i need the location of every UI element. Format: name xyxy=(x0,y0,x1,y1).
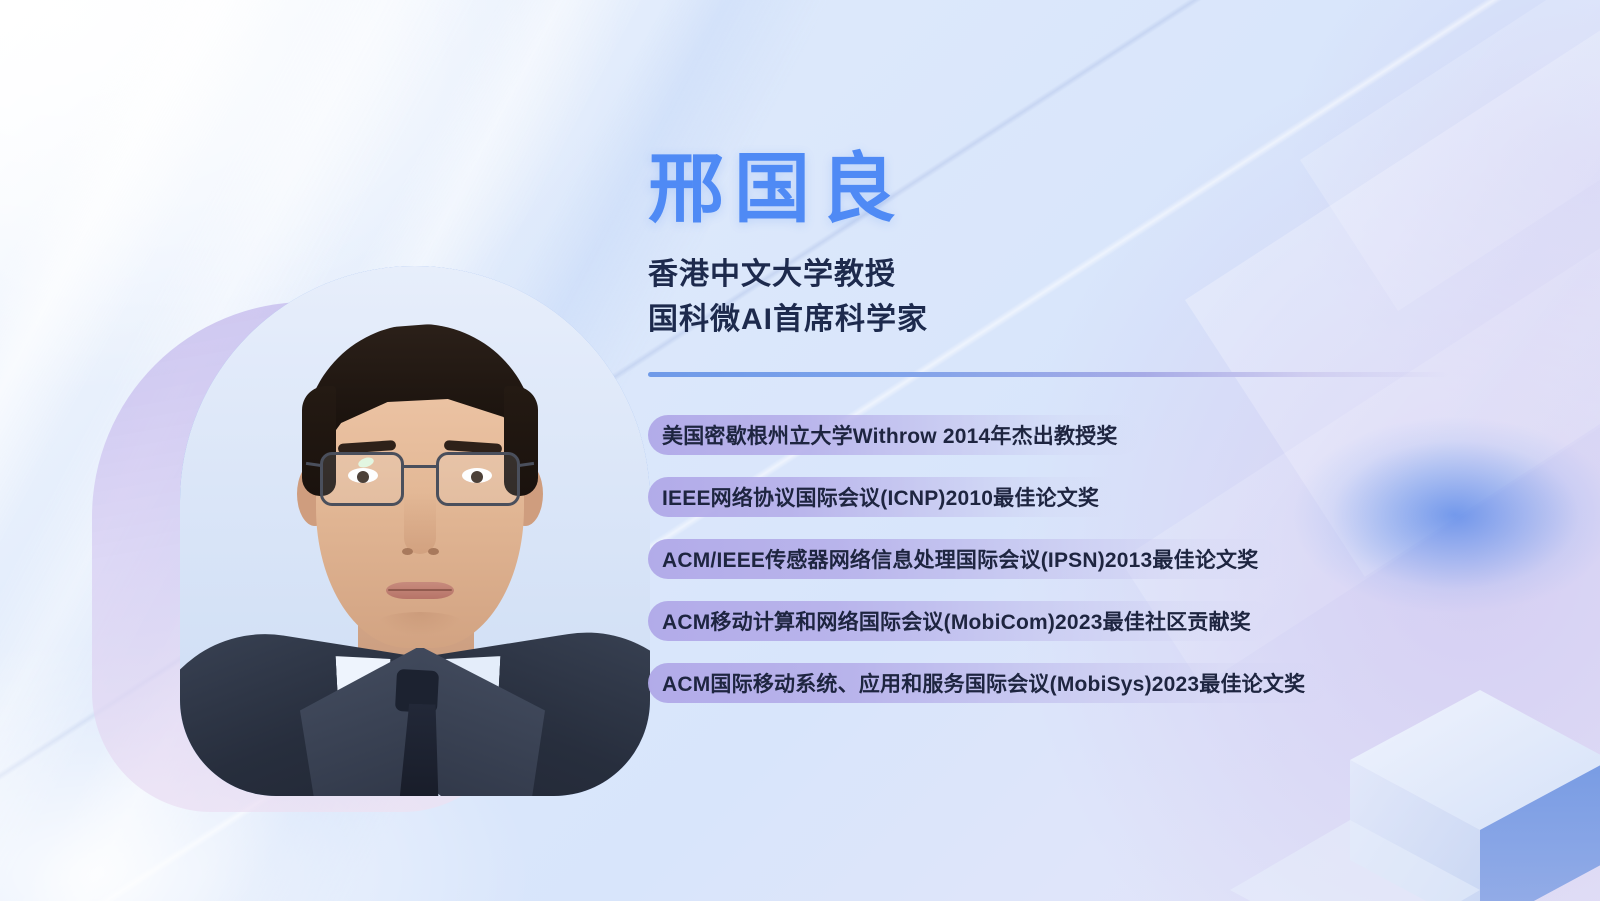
award-item: ACM国际移动系统、应用和服务国际会议(MobiSys)2023最佳论文奖 xyxy=(648,663,1327,703)
person-title-line: 香港中文大学教授 xyxy=(648,252,1548,297)
person-titles: 香港中文大学教授 国科微AI首席科学家 xyxy=(648,252,1548,342)
award-item: ACM/IEEE传感器网络信息处理国际会议(IPSN)2013最佳论文奖 xyxy=(648,539,1280,579)
person-name: 邢国良 xyxy=(648,148,1548,232)
award-label: ACM移动计算和网络国际会议(MobiCom)2023最佳社区贡献奖 xyxy=(662,606,1251,636)
avatar xyxy=(180,266,650,796)
award-label: IEEE网络协议国际会议(ICNP)2010最佳论文奖 xyxy=(662,482,1099,512)
section-divider xyxy=(648,372,1448,377)
award-item: IEEE网络协议国际会议(ICNP)2010最佳论文奖 xyxy=(648,477,1121,517)
award-item: ACM移动计算和网络国际会议(MobiCom)2023最佳社区贡献奖 xyxy=(648,601,1273,641)
profile-info: 邢国良 香港中文大学教授 国科微AI首席科学家 美国密歇根州立大学Withrow… xyxy=(648,148,1548,725)
person-title-line: 国科微AI首席科学家 xyxy=(648,297,1548,342)
award-label: ACM国际移动系统、应用和服务国际会议(MobiSys)2023最佳论文奖 xyxy=(662,668,1305,698)
award-item: 美国密歇根州立大学Withrow 2014年杰出教授奖 xyxy=(648,415,1140,455)
portrait-frame xyxy=(70,250,630,810)
award-label: ACM/IEEE传感器网络信息处理国际会议(IPSN)2013最佳论文奖 xyxy=(662,544,1258,574)
awards-list: 美国密歇根州立大学Withrow 2014年杰出教授奖 IEEE网络协议国际会议… xyxy=(648,415,1548,703)
profile-card: 邢国良 香港中文大学教授 国科微AI首席科学家 美国密歇根州立大学Withrow… xyxy=(0,0,1600,901)
award-label: 美国密歇根州立大学Withrow 2014年杰出教授奖 xyxy=(662,420,1118,450)
